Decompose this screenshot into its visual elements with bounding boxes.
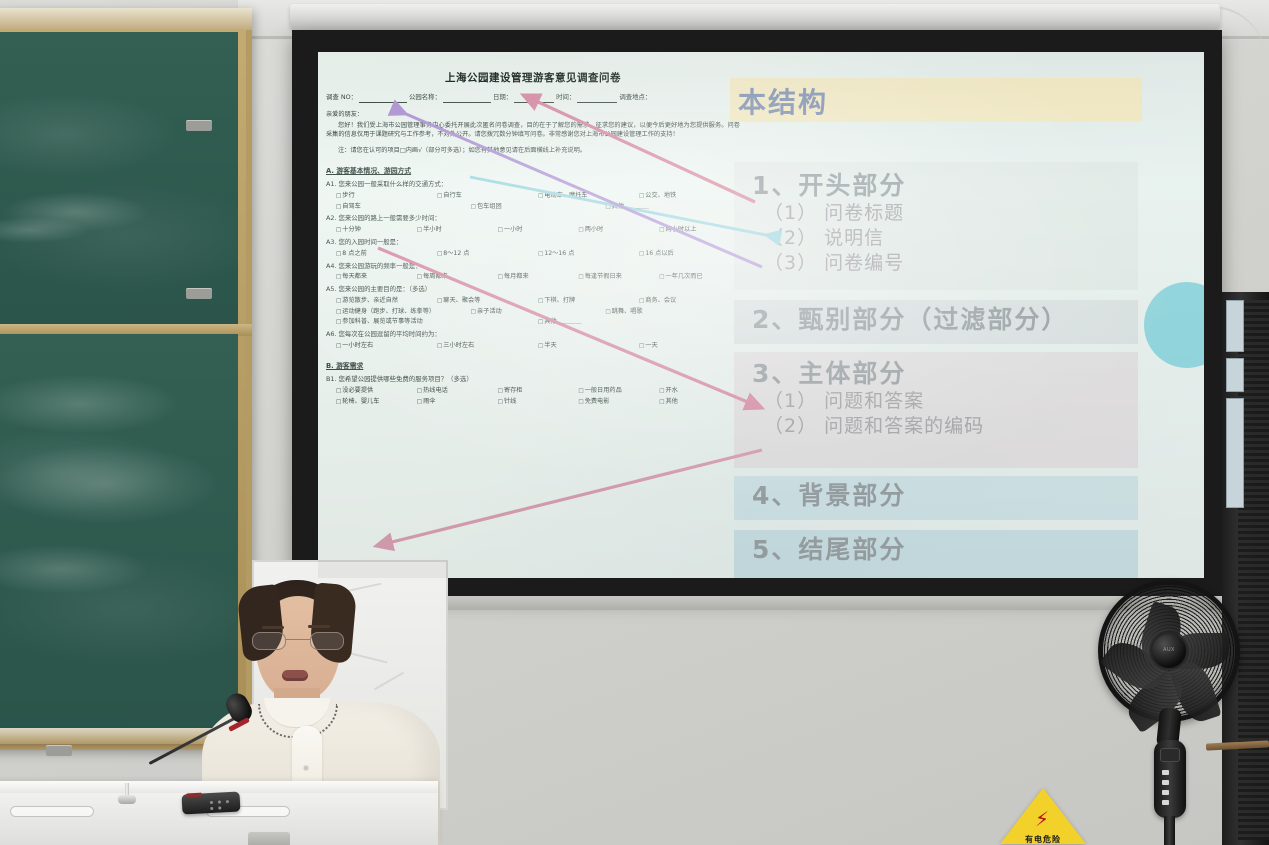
chalkboard-panel-upper [0, 32, 238, 324]
remote-indicator-strip [186, 793, 202, 798]
electrical-hazard-sign: ⚡ 有电危险 [1000, 788, 1086, 845]
annotation-arrows [318, 52, 1204, 578]
rack-port-label [1226, 398, 1244, 508]
remote-button[interactable] [218, 806, 221, 809]
glasses-lens-left [252, 632, 286, 650]
presenter-eyebrow-left [262, 626, 284, 629]
fan-timer-button[interactable] [1162, 790, 1169, 795]
lightning-bolt-icon: ⚡ [1035, 810, 1049, 830]
remote-button[interactable] [210, 807, 213, 810]
chalk-smudge [0, 192, 150, 232]
fan-brand-label: AUX [1154, 646, 1184, 654]
glasses-lens-right [310, 632, 344, 650]
remote-button[interactable] [210, 801, 213, 804]
lectern-handle-left[interactable] [10, 806, 94, 817]
screenshot-root: 上海公园建设管理游客意见调查问卷 调查 NO： 公园名称： 日期： 时间： 调查… [0, 0, 1269, 845]
arrow-questions-to-body [378, 248, 762, 408]
projection-screen-bezel: 上海公园建设管理游客意见调查问卷 调查 NO： 公园名称： 日期： 时间： 调查… [292, 30, 1222, 596]
chalk-smudge [0, 544, 150, 594]
chalk-smudge [0, 444, 220, 524]
projector-screen-roller-housing [290, 4, 1220, 30]
fan-speed-button[interactable] [1162, 770, 1169, 775]
arrow-number-to-code [406, 114, 762, 267]
remote-button[interactable] [218, 800, 221, 803]
chalk-tray-clip [46, 745, 72, 756]
blouse-button [304, 766, 308, 770]
presenter-eyebrow-right [308, 625, 330, 628]
presenter-mouth [282, 670, 308, 681]
chalkboard-top-rail [0, 8, 252, 30]
lectern-surface [0, 781, 438, 793]
chalkboard-clip [186, 288, 212, 299]
glass-base [118, 795, 136, 804]
fan-pole [1164, 816, 1175, 845]
chalkboard-clip [186, 120, 212, 131]
rack-port-label [1226, 358, 1244, 392]
arrow-section-b-to-coding [376, 450, 762, 546]
chalk-smudge [0, 217, 90, 243]
pedestal-fan: AUX [1098, 580, 1248, 845]
presentation-slide: 上海公园建设管理游客意见调查问卷 调查 NO： 公园名称： 日期： 时间： 调查… [318, 52, 1204, 578]
lectern-latch[interactable] [248, 831, 290, 845]
glasses-icon [252, 632, 344, 650]
glass-knob-object [118, 783, 136, 805]
fan-power-button[interactable] [1162, 800, 1169, 805]
glasses-bridge [286, 639, 310, 640]
rack-port-label [1226, 300, 1244, 352]
fan-speed-button[interactable] [1162, 780, 1169, 785]
chalk-smudge [0, 374, 180, 434]
fan-display-panel [1160, 748, 1180, 762]
arrow-title-to-heading [523, 95, 755, 202]
warning-sign-text: 有电危险 [1000, 834, 1086, 845]
remote-button[interactable] [226, 800, 229, 803]
